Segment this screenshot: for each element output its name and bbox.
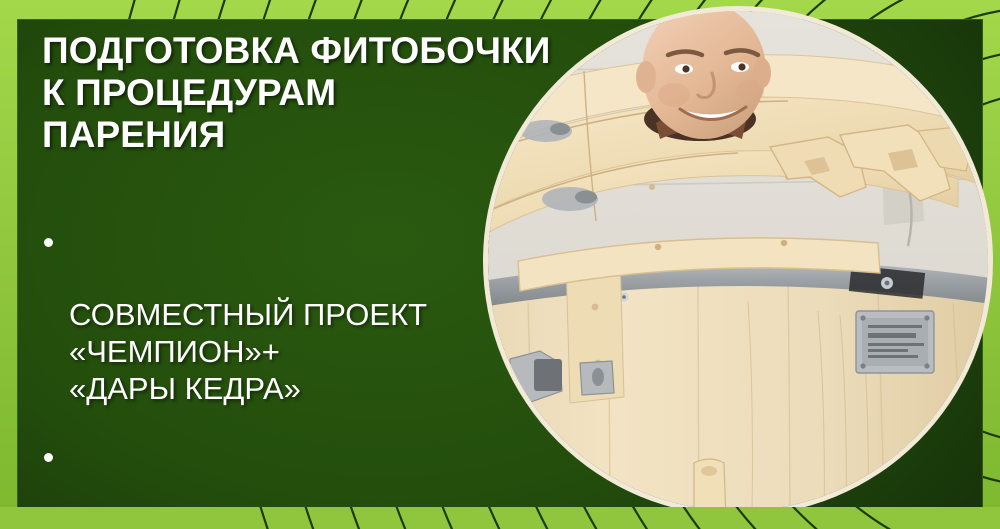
bullet-dot-icon (44, 238, 53, 247)
video-thumbnail-banner: ПОДГОТОВКА ФИТОБОЧКИ К ПРОЦЕДУРАМ ПАРЕНИ… (0, 0, 1000, 529)
bullet-item-1: СОВМЕСТНЫЙ ПРОЕКТ «ЧЕМПИОН»+ «ДАРЫ КЕДРА… (42, 223, 587, 407)
bullet-dot-icon (44, 453, 53, 462)
banner-bullet-list: СОВМЕСТНЫЙ ПРОЕКТ «ЧЕМПИОН»+ «ДАРЫ КЕДРА… (42, 223, 587, 529)
bullet-item-1-text: СОВМЕСТНЫЙ ПРОЕКТ «ЧЕМПИОН»+ «ДАРЫ КЕДРА… (69, 297, 427, 406)
banner-title: ПОДГОТОВКА ФИТОБОЧКИ К ПРОЦЕДУРАМ ПАРЕНИ… (42, 30, 587, 155)
text-content-block: ПОДГОТОВКА ФИТОБОЧКИ К ПРОЦЕДУРАМ ПАРЕНИ… (42, 30, 587, 529)
bottom-green-band (0, 507, 1000, 529)
